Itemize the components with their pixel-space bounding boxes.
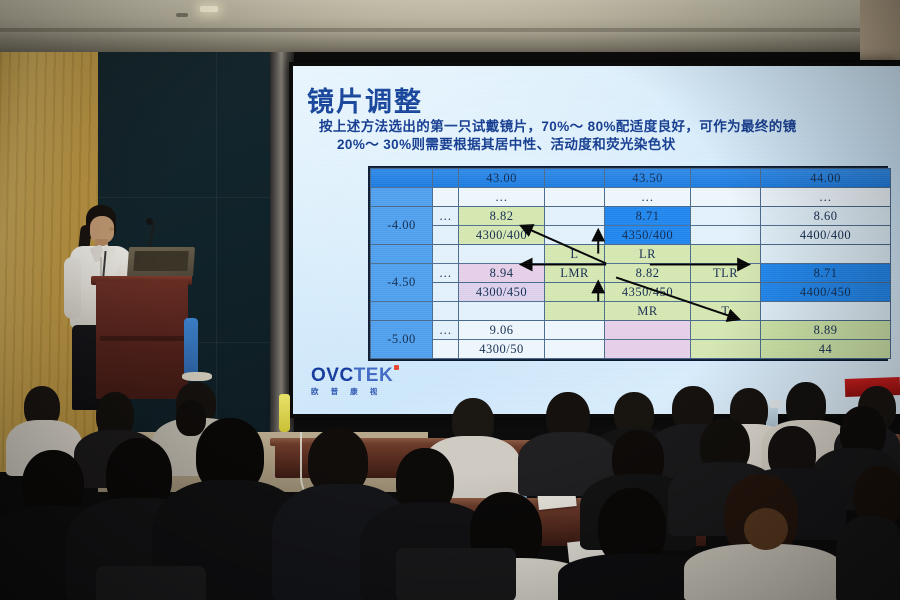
photo-scene: 镜片调整 按上述方法选出的第一只试戴镜片，70%～ 80%配适度良好，可作为最终… — [0, 0, 900, 600]
water-bottle — [770, 400, 781, 408]
audience-area — [0, 0, 900, 600]
audience-body — [684, 544, 844, 600]
chair-back — [396, 548, 516, 600]
audience-hair-bun — [744, 508, 788, 550]
chair-back — [96, 566, 206, 600]
audience-head — [176, 400, 206, 436]
audience-body — [836, 516, 900, 600]
water-bottle — [279, 394, 290, 432]
